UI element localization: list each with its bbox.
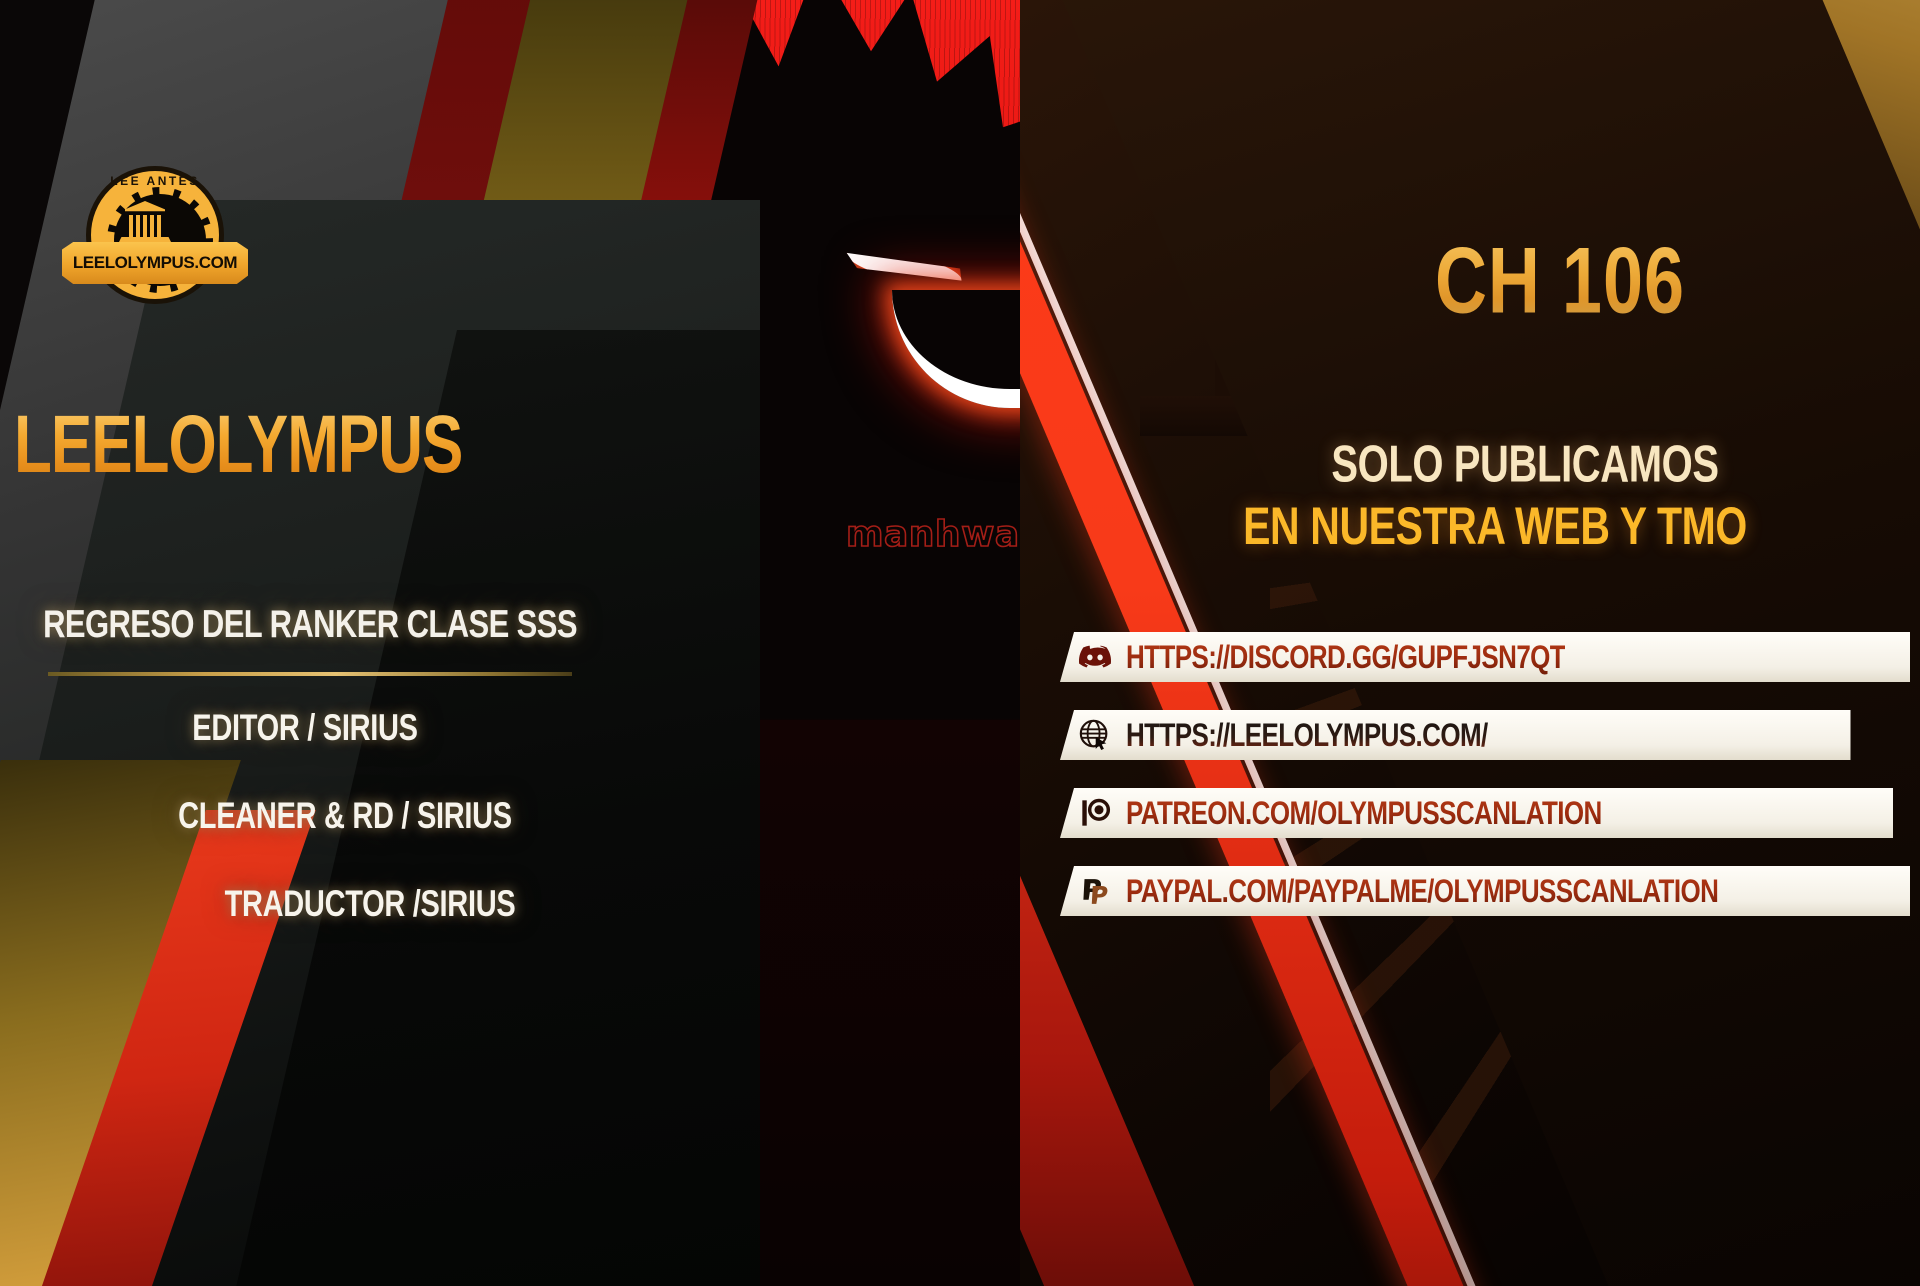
- divider: [48, 672, 572, 676]
- series-title: REGRESO DEL RANKER CLASE SSS: [40, 602, 580, 647]
- link-website-text: HTTPS://LEELOLYMPUS.COM/: [1126, 715, 1488, 754]
- notice-line-1: SOLO PUBLICAMOS: [1130, 436, 1920, 495]
- leelolympus-logo[interactable]: LEE ANTES LEELOLYMPUS.COM: [62, 166, 248, 306]
- brand-wordmark: LEELOLYMPUS: [14, 398, 462, 492]
- discord-icon: [1076, 638, 1114, 676]
- links-list: HTTPS://DISCORD.GG/GUPFJSN7QT HTTPS://LE…: [1060, 632, 1910, 944]
- logo-arc-text: LEE ANTES: [86, 174, 224, 188]
- link-website[interactable]: HTTPS://LEELOLYMPUS.COM/: [1060, 710, 1851, 760]
- credit-translator: TRADUCTOR /SIRIUS: [50, 884, 690, 926]
- link-paypal-text: PAYPAL.COM/PAYPALME/OLYMPUSSCANLATION: [1126, 871, 1718, 910]
- patreon-icon: [1076, 794, 1114, 832]
- logo-ribbon: LEELOLYMPUS.COM: [62, 242, 248, 284]
- link-paypal[interactable]: PAYPAL.COM/PAYPALME/OLYMPUSSCANLATION: [1060, 866, 1910, 916]
- credits-page: manhwabl.com LEE ANTES LEELOLYMPUS.COM L…: [0, 0, 1920, 1286]
- credit-editor: EDITOR / SIRIUS: [0, 708, 625, 750]
- chapter-number: CH 106: [1220, 228, 1900, 335]
- globe-cursor-icon: [1076, 716, 1114, 754]
- link-discord[interactable]: HTTPS://DISCORD.GG/GUPFJSN7QT: [1060, 632, 1910, 682]
- right-panel: CH 106 SOLO PUBLICAMOS EN NUESTRA WEB Y …: [1020, 0, 1920, 1286]
- temple-columns-icon: [129, 215, 161, 237]
- credit-cleaner-rd: CLEANER & RD / SIRIUS: [25, 796, 665, 838]
- notice-line-2: EN NUESTRA WEB Y TMO: [1060, 496, 1920, 557]
- paypal-icon: [1076, 872, 1114, 910]
- link-patreon[interactable]: PATREON.COM/OLYMPUSSCANLATION: [1060, 788, 1893, 838]
- left-panel: LEE ANTES LEELOLYMPUS.COM LEELOLYMPUS RE…: [0, 0, 760, 1286]
- link-discord-text: HTTPS://DISCORD.GG/GUPFJSN7QT: [1126, 637, 1565, 676]
- logo-ribbon-text: LEELOLYMPUS.COM: [73, 253, 237, 273]
- link-patreon-text: PATREON.COM/OLYMPUSSCANLATION: [1126, 793, 1602, 832]
